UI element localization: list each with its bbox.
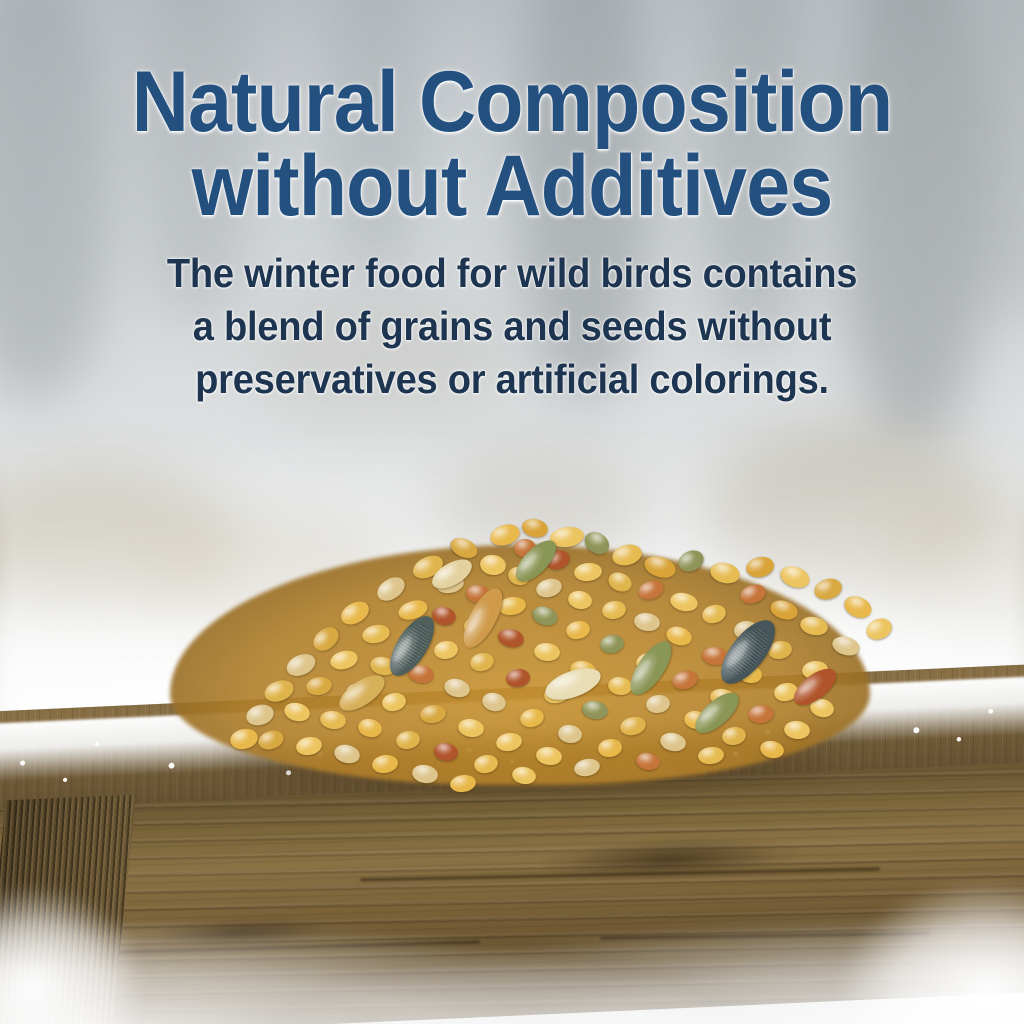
blurred-brush (250, 300, 510, 420)
seed (520, 516, 549, 539)
blurred-tree-trunk (520, 0, 650, 400)
blurred-tree-trunk (700, 0, 810, 350)
seed (777, 562, 812, 591)
product-banner: Natural Composition without Additives Th… (0, 0, 1024, 1024)
blurred-tree-trunk (140, 0, 250, 320)
blurred-tree-trunk (330, 0, 420, 280)
snow-right-drift (764, 824, 1024, 1024)
seed (744, 554, 776, 579)
bird-seed-pile (150, 505, 890, 805)
seed (812, 576, 844, 603)
snow-left-drift (0, 834, 200, 1024)
seed (841, 592, 875, 622)
